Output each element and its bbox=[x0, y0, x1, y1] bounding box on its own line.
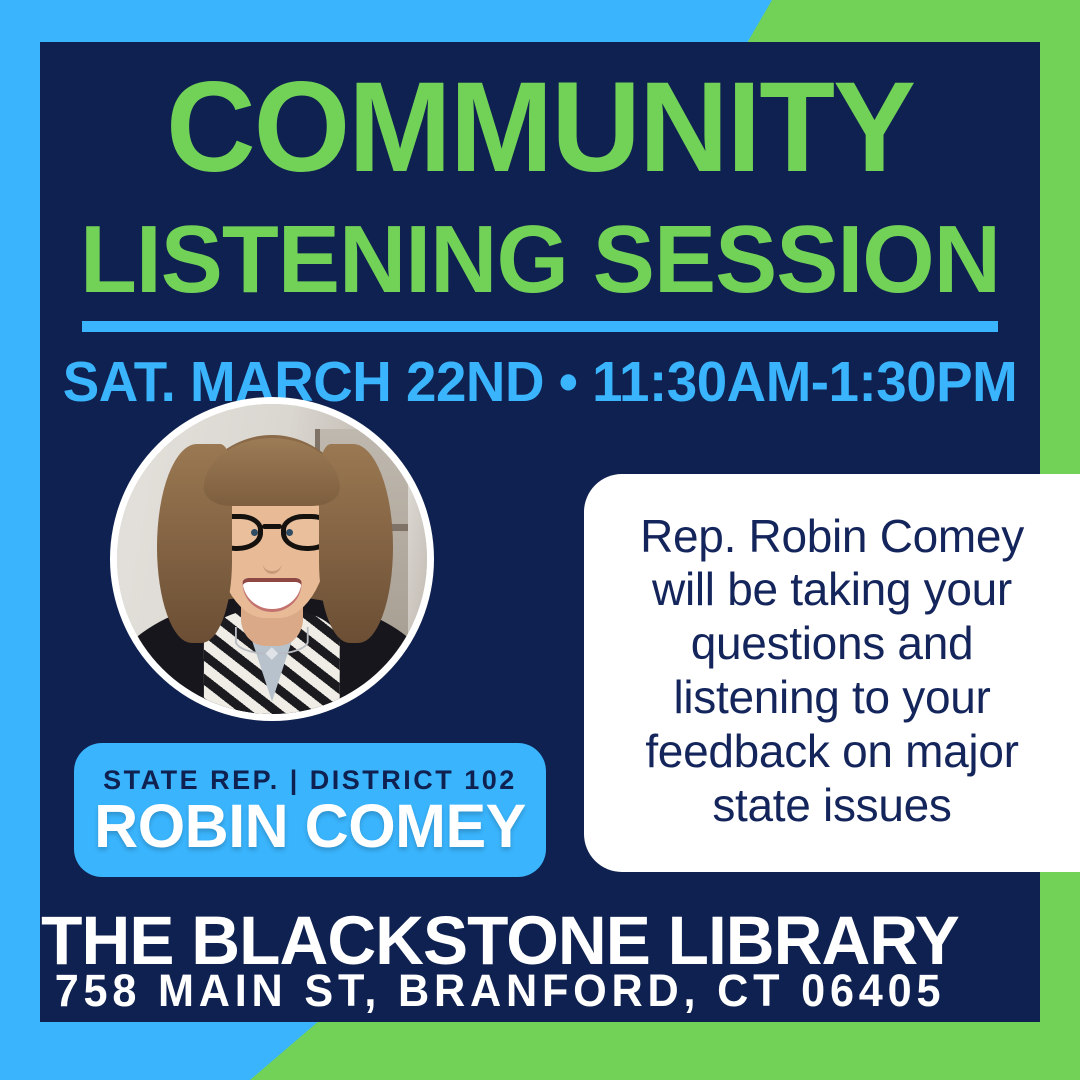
description-card: Rep. Robin Comey will be taking your que… bbox=[584, 474, 1080, 872]
event-flyer: COMMUNITY LISTENING SESSION SAT. MARCH 2… bbox=[0, 0, 1080, 1080]
speaker-name-badge: STATE REP. | DISTRICT 102 ROBIN COMEY bbox=[74, 743, 546, 877]
necklace-shape bbox=[235, 627, 309, 655]
title-divider bbox=[82, 321, 998, 332]
description-text: Rep. Robin Comey will be taking your que… bbox=[606, 510, 1058, 833]
nose-shape bbox=[263, 553, 282, 575]
green-corner-accent-bottom bbox=[250, 1020, 1080, 1080]
speaker-photo bbox=[117, 404, 427, 714]
event-date-time: SAT. MARCH 22ND • 11:30AM-1:30PM bbox=[60, 354, 1020, 411]
speaker-role-label: STATE REP. | DISTRICT 102 bbox=[103, 767, 517, 794]
page-title-line-2: LISTENING SESSION bbox=[55, 212, 1025, 308]
venue-address: 758 MAIN ST, BRANFORD, CT 06405 bbox=[20, 968, 980, 1013]
page-title-line-1: COMMUNITY bbox=[55, 64, 1025, 192]
speaker-name-label: ROBIN COMEY bbox=[94, 794, 526, 858]
speaker-avatar bbox=[110, 397, 434, 721]
glasses-bridge bbox=[262, 524, 282, 529]
